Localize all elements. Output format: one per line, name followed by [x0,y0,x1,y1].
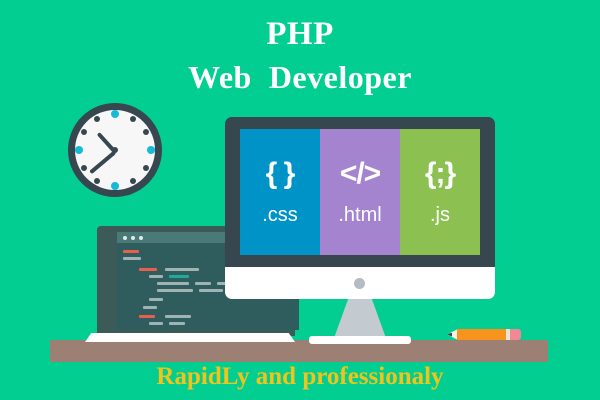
monitor-panel-css: { }.css [240,129,320,255]
panel-extension-label: .html [338,205,381,225]
monitor-bezel: { }.css</>.html{;}.js [225,117,495,267]
code-line [149,298,163,301]
pencil [447,329,521,340]
code-line [165,268,199,271]
panel-extension-label: .css [262,205,298,225]
clock-tick [75,146,83,154]
clock-tick [147,146,155,154]
wall-clock [68,103,162,197]
monitor-stand-foot [309,336,411,344]
page-title-primary: PHP [0,18,600,51]
panel-symbol: </> [340,159,380,189]
illustration-canvas: PHP Web Developer { }.css</>.html{;}.j [0,0,600,400]
code-line [139,268,157,271]
pencil-eraser [510,329,521,340]
monitor-power-dot-icon [354,278,365,289]
desktop-monitor: { }.css</>.html{;}.js [225,117,495,342]
panel-extension-label: .js [430,205,450,225]
panel-symbol: { } [266,159,295,189]
monitor-screen: { }.css</>.html{;}.js [240,129,480,255]
code-line [195,282,211,285]
code-line [157,282,189,285]
code-line [123,250,139,253]
code-line [139,315,155,318]
clock-tick [81,165,87,171]
monitor-panel-js: {;}.js [400,129,480,255]
code-line [165,315,191,318]
clock-tick [111,110,119,118]
code-line [143,306,157,309]
code-line [199,289,223,292]
clock-tick [81,129,87,135]
code-line [169,322,185,325]
panel-symbol: {;} [425,159,455,189]
page-title-secondary: Web Developer [0,61,600,93]
clock-tick [130,116,136,122]
code-line [123,257,141,260]
monitor-stand-neck [333,299,387,341]
window-dot-icon [131,236,135,240]
code-line [169,275,189,278]
clock-tick [111,182,119,190]
monitor-chin [225,267,495,299]
pencil-lead [447,333,452,337]
pencil-body [457,329,507,340]
code-line [157,289,193,292]
clock-center-pin [112,147,118,153]
code-line [149,322,163,325]
tagline-text: RapidLy and professionaly [0,364,600,389]
clock-tick [94,116,100,122]
window-dot-icon [123,236,127,240]
code-line [149,275,163,278]
monitor-panel-html: </>.html [320,129,400,255]
window-dot-icon [139,236,143,240]
